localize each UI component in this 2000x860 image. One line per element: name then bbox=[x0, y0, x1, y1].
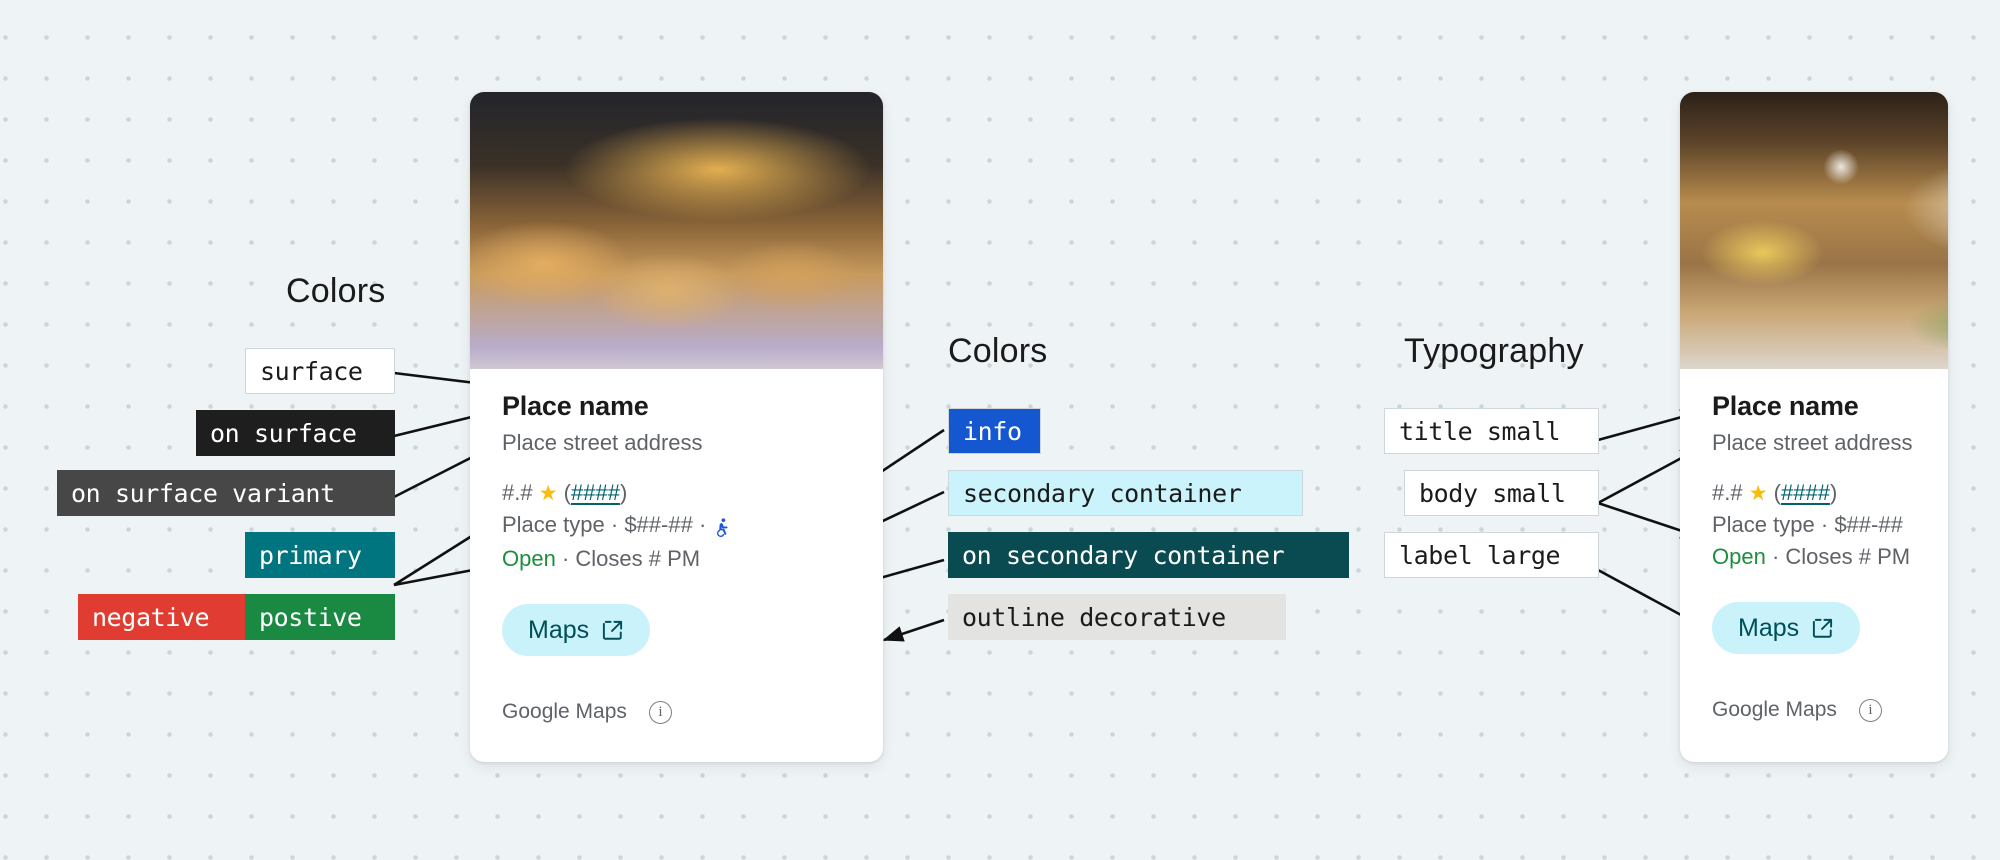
attribution-label: Google Maps bbox=[1712, 698, 1837, 722]
place-rating-row: #.# ★ (####) bbox=[502, 480, 851, 506]
attribution-row: Google Maps i bbox=[502, 700, 851, 724]
rating-open-paren: ( bbox=[564, 480, 571, 505]
place-hours-row: Open · Closes # PM bbox=[1712, 544, 1916, 570]
maps-button[interactable]: Maps bbox=[502, 604, 650, 656]
type-chip-label-large[interactable]: label large bbox=[1384, 532, 1599, 578]
color-chip-on-surface-variant[interactable]: on surface variant bbox=[57, 470, 395, 516]
place-photo bbox=[1680, 92, 1948, 369]
typography-heading: Typography bbox=[1404, 332, 1584, 371]
price-range: $##-## bbox=[624, 512, 693, 537]
color-chip-on-secondary-container[interactable]: on secondary container bbox=[948, 532, 1349, 578]
place-card-center[interactable]: Place name Place street address #.# ★ (#… bbox=[470, 92, 883, 762]
open-in-new-icon bbox=[1811, 617, 1834, 640]
attribution-label: Google Maps bbox=[502, 700, 627, 724]
rating-open-paren: ( bbox=[1774, 480, 1781, 505]
maps-button-label: Maps bbox=[528, 616, 589, 645]
attribution-row: Google Maps i bbox=[1712, 698, 1916, 722]
color-chip-surface[interactable]: surface bbox=[245, 348, 395, 394]
maps-button-label: Maps bbox=[1738, 614, 1799, 643]
open-in-new-icon bbox=[601, 619, 624, 642]
star-icon: ★ bbox=[539, 482, 558, 505]
color-chip-label: postive bbox=[259, 603, 362, 632]
rating-count-link[interactable]: #### bbox=[1781, 480, 1830, 505]
closing-time: Closes # PM bbox=[575, 546, 700, 571]
open-status: Open bbox=[502, 546, 556, 571]
closing-time: Closes # PM bbox=[1785, 544, 1910, 569]
color-chip-label: outline decorative bbox=[962, 603, 1226, 632]
color-chip-label: info bbox=[963, 417, 1022, 446]
dot-separator-2: · bbox=[699, 512, 706, 537]
place-rating-row: #.# ★ (####) bbox=[1712, 480, 1916, 506]
dot-separator: · bbox=[1821, 512, 1828, 537]
dot-separator-3: · bbox=[1772, 544, 1779, 569]
place-type-row: Place type · $##-## · bbox=[502, 512, 851, 540]
info-icon[interactable]: i bbox=[1859, 699, 1882, 722]
maps-button[interactable]: Maps bbox=[1712, 602, 1860, 654]
rating-value: #.# bbox=[1712, 480, 1743, 505]
color-chip-label: negative bbox=[92, 603, 209, 632]
color-chip-info[interactable]: info bbox=[948, 408, 1041, 454]
color-chip-label: on secondary container bbox=[962, 541, 1284, 570]
place-type: Place type bbox=[502, 512, 605, 537]
color-chip-outline-decorative[interactable]: outline decorative bbox=[948, 594, 1286, 640]
place-name: Place name bbox=[502, 391, 851, 422]
color-chip-label: on surface variant bbox=[71, 479, 335, 508]
type-chip-label: body small bbox=[1419, 479, 1566, 508]
color-chip-on-surface[interactable]: on surface bbox=[196, 410, 395, 456]
type-chip-body-small[interactable]: body small bbox=[1404, 470, 1599, 516]
place-type: Place type bbox=[1712, 512, 1815, 537]
colors-center-heading: Colors bbox=[948, 332, 1047, 371]
price-range: $##-## bbox=[1834, 512, 1903, 537]
type-chip-title-small[interactable]: title small bbox=[1384, 408, 1599, 454]
place-hours-row: Open · Closes # PM bbox=[502, 546, 851, 572]
wheelchair-icon bbox=[712, 516, 733, 539]
color-chip-negative[interactable]: negative bbox=[78, 594, 245, 640]
rating-close-paren: ) bbox=[1830, 480, 1837, 505]
color-chip-primary[interactable]: primary bbox=[245, 532, 395, 578]
colors-left-heading: Colors bbox=[286, 272, 385, 311]
color-chip-label: surface bbox=[260, 357, 363, 386]
color-chip-label: primary bbox=[259, 541, 362, 570]
color-chip-secondary-container[interactable]: secondary container bbox=[948, 470, 1303, 516]
place-type-row: Place type · $##-## bbox=[1712, 512, 1916, 538]
place-card-right[interactable]: Place name Place street address #.# ★ (#… bbox=[1680, 92, 1948, 762]
type-chip-label: title small bbox=[1399, 417, 1560, 446]
place-address: Place street address bbox=[502, 430, 851, 456]
type-chip-label: label large bbox=[1399, 541, 1560, 570]
color-chip-label: on surface bbox=[210, 419, 357, 448]
info-icon[interactable]: i bbox=[649, 701, 672, 724]
color-chip-label: secondary container bbox=[963, 479, 1241, 508]
rating-value: #.# bbox=[502, 480, 533, 505]
dot-separator-3: · bbox=[562, 546, 569, 571]
star-icon: ★ bbox=[1749, 482, 1768, 505]
rating-close-paren: ) bbox=[620, 480, 627, 505]
place-address: Place street address bbox=[1712, 430, 1916, 456]
dot-separator: · bbox=[611, 512, 618, 537]
open-status: Open bbox=[1712, 544, 1766, 569]
place-name: Place name bbox=[1712, 391, 1916, 422]
color-chip-postive[interactable]: postive bbox=[245, 594, 395, 640]
rating-count-link[interactable]: #### bbox=[571, 480, 620, 505]
place-photo bbox=[470, 92, 883, 369]
